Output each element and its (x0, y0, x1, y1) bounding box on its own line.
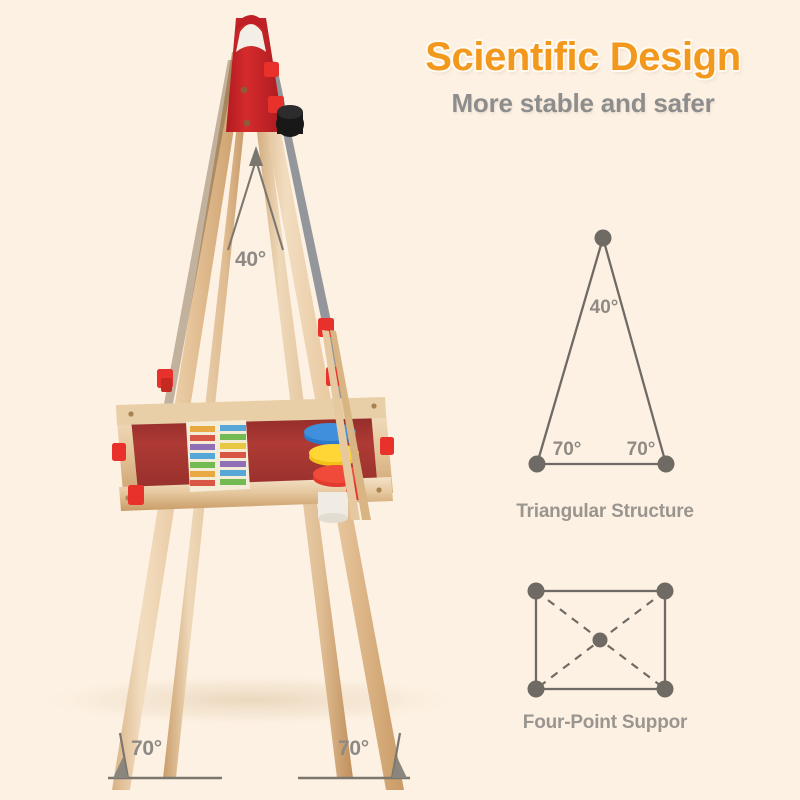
vertex-base-right (658, 456, 675, 473)
easel-illustration (0, 0, 470, 800)
angle-label-right-70: 70° (338, 737, 369, 761)
triangle-apex-angle-text: 40° (590, 297, 619, 318)
vertex-bottom-right (657, 681, 674, 698)
infographic-page: 40° 70° 70° Scientific Design More stabl… (0, 0, 800, 800)
vertex-bottom-left (528, 681, 545, 698)
paper-roll-holder (276, 105, 304, 137)
product-image-easel: 40° 70° 70° (0, 0, 470, 800)
vertex-center (593, 633, 608, 648)
vertex-top-left (528, 583, 545, 600)
diagram-caption-four-point-support: Four-Point Suppor (470, 712, 740, 734)
vertex-base-left (529, 456, 546, 473)
diagram-caption-triangular-structure: Triangular Structure (470, 501, 740, 523)
diagram-triangular-structure: 40° 70° 70° Triangular Structure (470, 215, 740, 515)
triangle-base-left-angle-text: 70° (553, 439, 582, 460)
angle-label-left-70: 70° (131, 737, 162, 761)
sticker-sheet (186, 420, 250, 492)
page-title: Scientific Design (380, 36, 786, 78)
vertex-top-right (657, 583, 674, 600)
floor-shadow (35, 674, 465, 726)
square-diagram-svg (470, 565, 740, 705)
triangle-base-right-angle-text: 70° (627, 439, 656, 460)
triangle-diagram-svg: 40° 70° 70° (470, 215, 740, 495)
diagram-four-point-support: Four-Point Suppor (470, 565, 740, 745)
angle-label-apex-40: 40° (235, 248, 266, 272)
heading-block: Scientific Design More stable and safer (380, 36, 786, 119)
vertex-apex (595, 230, 612, 247)
page-subtitle: More stable and safer (380, 88, 786, 119)
